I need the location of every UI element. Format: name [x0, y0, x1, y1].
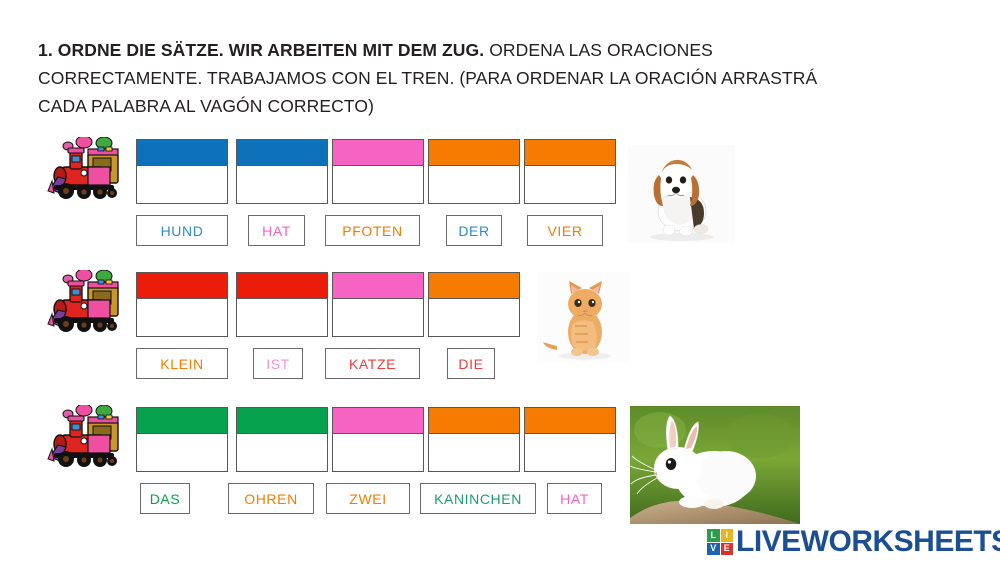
- wagon-drop-target[interactable]: [428, 407, 520, 472]
- wagon-drop-target[interactable]: [236, 407, 328, 472]
- draggable-word[interactable]: KANINCHEN: [420, 483, 536, 514]
- wagon-color-band: [237, 408, 327, 434]
- draggable-word[interactable]: KLEIN: [136, 348, 228, 379]
- wagon-word-slot[interactable]: [137, 299, 227, 336]
- worksheet-page: 1. ORDNE DIE SÄTZE. WIR ARBEITEN MIT DEM…: [0, 0, 1000, 562]
- wagon-word-slot[interactable]: [525, 166, 615, 203]
- wagon-drop-target[interactable]: [332, 139, 424, 204]
- wagon-word-slot[interactable]: [137, 166, 227, 203]
- liveworksheets-logo: LIVE LIVEWORKSHEETS: [707, 527, 1000, 557]
- train-locomotive-icon: [46, 137, 136, 209]
- wagon-word-slot[interactable]: [237, 434, 327, 471]
- draggable-word[interactable]: HUND: [136, 215, 228, 246]
- train-locomotive-icon: [46, 270, 136, 342]
- draggable-word[interactable]: HAT: [248, 215, 305, 246]
- wagon-color-band: [525, 408, 615, 434]
- wagon-color-band: [333, 408, 423, 434]
- wagon-color-band: [429, 140, 519, 166]
- wagon-color-band: [429, 408, 519, 434]
- wagon-word-slot[interactable]: [525, 434, 615, 471]
- instruction-text: 1. ORDNE DIE SÄTZE. WIR ARBEITEN MIT DEM…: [38, 36, 828, 120]
- wagon-color-band: [525, 140, 615, 166]
- logo-tile: L: [707, 529, 720, 542]
- wagon-word-slot[interactable]: [333, 299, 423, 336]
- instruction-bold: 1. ORDNE DIE SÄTZE. WIR ARBEITEN MIT DEM…: [38, 40, 484, 60]
- beagle-puppy-photo: [628, 145, 735, 243]
- wagon-word-slot[interactable]: [333, 166, 423, 203]
- logo-tile: V: [707, 543, 720, 556]
- wagon-color-band: [137, 140, 227, 166]
- wagon-word-slot[interactable]: [333, 434, 423, 471]
- draggable-word[interactable]: PFOTEN: [325, 215, 420, 246]
- wagon-word-slot[interactable]: [237, 166, 327, 203]
- draggable-word[interactable]: OHREN: [228, 483, 314, 514]
- wagon-color-band: [237, 140, 327, 166]
- wagon-drop-target[interactable]: [524, 139, 616, 204]
- wagon-color-band: [137, 408, 227, 434]
- wagon-drop-target[interactable]: [332, 407, 424, 472]
- wagon-drop-target[interactable]: [136, 272, 228, 337]
- liveworksheets-logo-mark: LIVE: [707, 529, 733, 555]
- draggable-word[interactable]: VIER: [527, 215, 603, 246]
- wagon-color-band: [429, 273, 519, 299]
- white-rabbit-photo: [630, 406, 800, 524]
- draggable-word[interactable]: DIE: [447, 348, 495, 379]
- wagon-drop-target[interactable]: [136, 407, 228, 472]
- wagon-word-slot[interactable]: [237, 299, 327, 336]
- draggable-word[interactable]: DER: [446, 215, 502, 246]
- draggable-word[interactable]: IST: [253, 348, 303, 379]
- draggable-word[interactable]: KATZE: [325, 348, 420, 379]
- draggable-word[interactable]: DAS: [140, 483, 190, 514]
- ginger-kitten-photo: [537, 272, 629, 362]
- wagon-color-band: [333, 273, 423, 299]
- draggable-word[interactable]: ZWEI: [326, 483, 410, 514]
- wagon-word-slot[interactable]: [429, 299, 519, 336]
- draggable-word[interactable]: HAT: [547, 483, 602, 514]
- wagon-word-slot[interactable]: [429, 434, 519, 471]
- wagon-drop-target[interactable]: [236, 139, 328, 204]
- wagon-color-band: [137, 273, 227, 299]
- wagon-drop-target[interactable]: [236, 272, 328, 337]
- wagon-word-slot[interactable]: [429, 166, 519, 203]
- wagon-color-band: [237, 273, 327, 299]
- wagon-drop-target[interactable]: [136, 139, 228, 204]
- logo-tile: E: [721, 543, 734, 556]
- wagon-drop-target[interactable]: [428, 139, 520, 204]
- train-locomotive-icon: [46, 405, 136, 477]
- wagon-word-slot[interactable]: [137, 434, 227, 471]
- wagon-drop-target[interactable]: [524, 407, 616, 472]
- wagon-drop-target[interactable]: [332, 272, 424, 337]
- wagon-color-band: [333, 140, 423, 166]
- liveworksheets-logo-text: LIVEWORKSHEETS: [736, 525, 1000, 559]
- logo-tile: I: [721, 529, 734, 542]
- wagon-drop-target[interactable]: [428, 272, 520, 337]
